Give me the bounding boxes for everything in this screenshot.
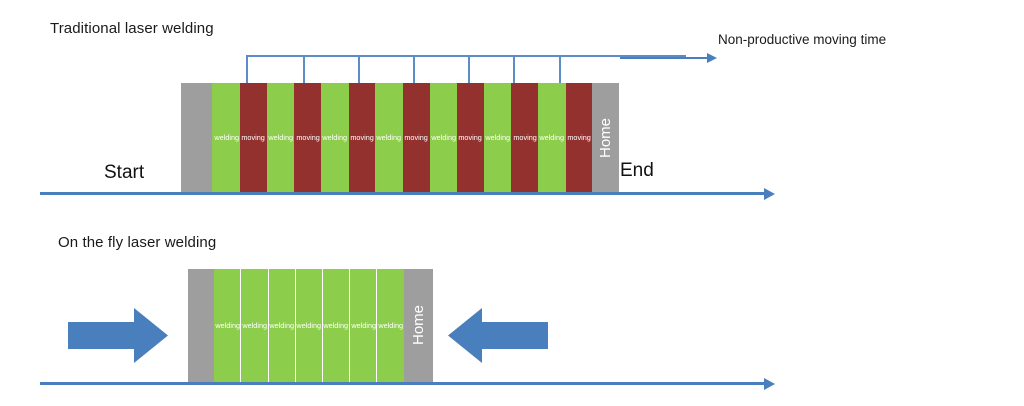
traditional-timeline-bar: weldingmovingweldingmovingweldingmovingw… bbox=[181, 83, 619, 193]
moving-bracket-tick-2 bbox=[303, 55, 305, 84]
segment-moving-6: moving bbox=[511, 83, 538, 193]
end-label: End bbox=[620, 160, 654, 182]
moving-segment-label: moving bbox=[242, 134, 265, 141]
segment-welding-4: welding bbox=[375, 83, 403, 193]
moving-segment-label: moving bbox=[459, 134, 482, 141]
moving-segment-label: moving bbox=[567, 134, 590, 141]
segment-welding-2: welding bbox=[240, 269, 267, 382]
annotation-arrow-line bbox=[620, 57, 708, 59]
non-productive-moving-time-label: Non-productive moving time bbox=[718, 32, 886, 47]
segment-welding-5: welding bbox=[322, 269, 349, 382]
welding-segment-label: welding bbox=[540, 134, 565, 141]
segment-moving-5: moving bbox=[457, 83, 484, 193]
top-time-axis-arrowhead bbox=[764, 188, 775, 200]
welding-segment-label: welding bbox=[351, 322, 376, 329]
segment-moving-7: moving bbox=[566, 83, 593, 193]
segment-moving-2: moving bbox=[294, 83, 321, 193]
moving-bracket-tick-7 bbox=[559, 55, 561, 84]
moving-bracket-tick-1 bbox=[246, 55, 248, 84]
segment-end-home: Home bbox=[592, 83, 619, 193]
welding-segment-label: welding bbox=[297, 322, 322, 329]
moving-segment-label: moving bbox=[350, 134, 373, 141]
bottom-time-axis-arrowhead bbox=[764, 378, 775, 390]
welding-segment-label: welding bbox=[378, 322, 403, 329]
segment-welding-7: welding bbox=[538, 83, 566, 193]
left-block-arrow-right bbox=[68, 308, 168, 363]
home-segment-label: Home bbox=[598, 118, 613, 158]
moving-segment-label: moving bbox=[404, 134, 427, 141]
segment-welding-4: welding bbox=[295, 269, 322, 382]
moving-bracket-tick-5 bbox=[468, 55, 470, 84]
on-the-fly-timeline-bar: weldingweldingweldingweldingweldingweldi… bbox=[188, 269, 433, 382]
right-block-arrow-left bbox=[448, 308, 548, 363]
segment-welding-6: welding bbox=[349, 269, 376, 382]
bottom-diagram-title: On the fly laser welding bbox=[58, 234, 216, 251]
segment-welding-1: welding bbox=[214, 269, 240, 382]
welding-segment-label: welding bbox=[431, 134, 456, 141]
segment-welding-5: welding bbox=[430, 83, 458, 193]
segment-start-home bbox=[181, 83, 212, 193]
home-segment-label: Home bbox=[411, 305, 426, 345]
segment-welding-2: welding bbox=[267, 83, 295, 193]
moving-bracket-tick-4 bbox=[413, 55, 415, 84]
segment-welding-3: welding bbox=[321, 83, 349, 193]
bottom-time-axis-line bbox=[40, 382, 765, 385]
welding-segment-label: welding bbox=[377, 134, 402, 141]
segment-welding-1: welding bbox=[212, 83, 240, 193]
moving-segment-label: moving bbox=[296, 134, 319, 141]
start-label: Start bbox=[104, 162, 144, 184]
segment-welding-7: welding bbox=[376, 269, 403, 382]
moving-segment-label: moving bbox=[513, 134, 536, 141]
top-time-axis-line bbox=[40, 192, 765, 195]
annotation-arrow-head bbox=[707, 53, 717, 63]
welding-segment-label: welding bbox=[269, 322, 294, 329]
segment-welding-6: welding bbox=[484, 83, 512, 193]
top-diagram-title: Traditional laser welding bbox=[50, 20, 214, 37]
welding-segment-label: welding bbox=[268, 134, 293, 141]
segment-start-home bbox=[188, 269, 214, 382]
welding-segment-label: welding bbox=[242, 322, 267, 329]
moving-bracket-tick-6 bbox=[513, 55, 515, 84]
welding-segment-label: welding bbox=[485, 134, 510, 141]
diagram-canvas: Traditional laser welding Non-productive… bbox=[0, 0, 1024, 406]
segment-end-home: Home bbox=[404, 269, 433, 382]
segment-moving-3: moving bbox=[349, 83, 376, 193]
welding-segment-label: welding bbox=[215, 322, 240, 329]
segment-moving-1: moving bbox=[240, 83, 267, 193]
segment-welding-3: welding bbox=[268, 269, 295, 382]
moving-bracket-tick-3 bbox=[358, 55, 360, 84]
welding-segment-label: welding bbox=[324, 322, 349, 329]
welding-segment-label: welding bbox=[322, 134, 347, 141]
segment-moving-4: moving bbox=[403, 83, 430, 193]
welding-segment-label: welding bbox=[214, 134, 239, 141]
